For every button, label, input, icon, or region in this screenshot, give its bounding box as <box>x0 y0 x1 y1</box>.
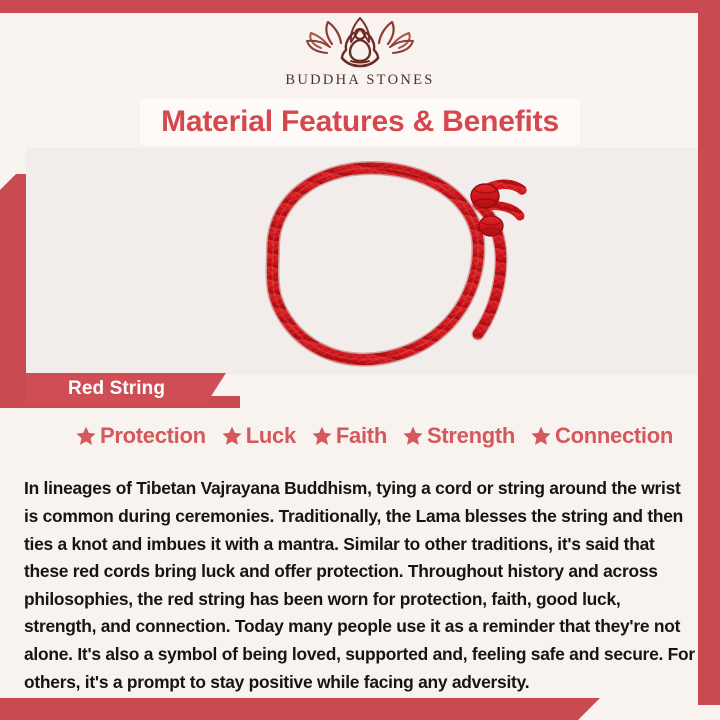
benefit-label: Protection <box>100 423 206 449</box>
benefit-item-faith: Faith <box>311 423 387 449</box>
benefit-item-connection: Connection <box>530 423 673 449</box>
lotus-meditation-icon <box>301 14 419 70</box>
product-name-ribbon: Red String <box>26 373 226 404</box>
brand-logo: BUDDHA STONES <box>0 14 720 96</box>
star-icon <box>530 425 552 447</box>
benefit-label: Faith <box>336 423 387 449</box>
star-icon <box>221 425 243 447</box>
benefit-item-strength: Strength <box>402 423 515 449</box>
star-icon <box>75 425 97 447</box>
star-icon <box>402 425 424 447</box>
title-banner: Material Features & Benefits <box>140 99 580 145</box>
frame-bottom-bar <box>0 698 600 720</box>
red-braided-string-bracelet-image <box>26 148 698 374</box>
frame-top-bar <box>0 0 720 13</box>
benefit-label: Luck <box>246 423 296 449</box>
page-title: Material Features & Benefits <box>161 105 559 139</box>
description-text: In lineages of Tibetan Vajrayana Buddhis… <box>24 475 696 696</box>
benefit-label: Connection <box>555 423 673 449</box>
product-name: Red String <box>68 378 165 400</box>
brand-wordmark: BUDDHA STONES <box>285 72 434 89</box>
hero-image <box>26 148 698 374</box>
frame-right-bar <box>698 0 720 705</box>
benefit-item-protection: Protection <box>75 423 206 449</box>
infographic-page: BUDDHA STONES Material Features & Benefi… <box>0 0 720 720</box>
frame-left-bar <box>0 174 26 406</box>
benefits-row: Protection Luck Faith <box>26 418 698 454</box>
benefit-label: Strength <box>427 423 515 449</box>
star-icon <box>311 425 333 447</box>
benefit-item-luck: Luck <box>221 423 296 449</box>
